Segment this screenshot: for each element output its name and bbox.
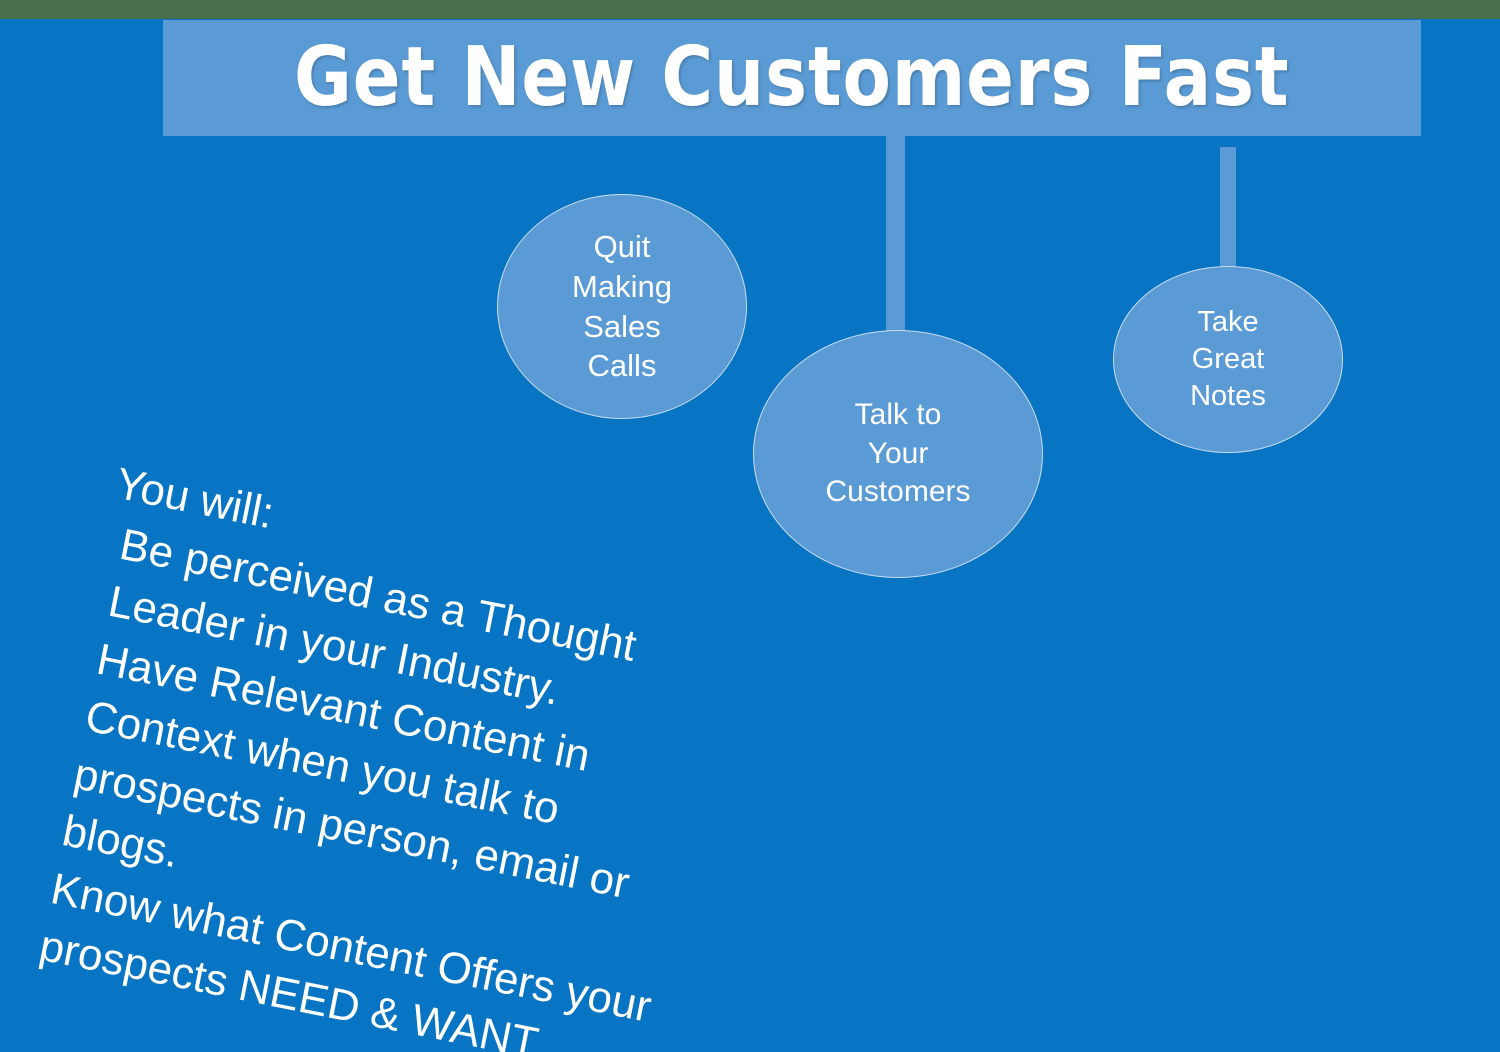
circle-label-line: Making [572, 267, 672, 307]
circle-label-line: Talk to [855, 396, 942, 434]
slide-canvas: Get New Customers Fast Quit Making Sales… [0, 0, 1500, 1052]
circle-label-line: Calls [588, 346, 657, 386]
circle-quit-making-sales-calls[interactable]: Quit Making Sales Calls [497, 194, 747, 419]
circle-label-line: Customers [825, 473, 970, 511]
circle-take-great-notes[interactable]: Take Great Notes [1113, 266, 1343, 453]
benefits-text-block: You will: Be perceived as a Thought Lead… [19, 455, 926, 1052]
page-title: Get New Customers Fast [294, 37, 1289, 119]
circle-talk-to-your-customers[interactable]: Talk to Your Customers [753, 330, 1043, 578]
circle-label-line: Quit [594, 227, 651, 267]
circle-label-line: Notes [1190, 378, 1266, 415]
top-accent-strip [0, 0, 1500, 19]
title-banner: Get New Customers Fast [163, 20, 1421, 136]
circle-label-line: Take [1197, 304, 1258, 341]
circle-label-line: Great [1192, 341, 1265, 378]
circle-label-line: Sales [583, 307, 661, 347]
circle-label-line: Your [868, 435, 929, 473]
